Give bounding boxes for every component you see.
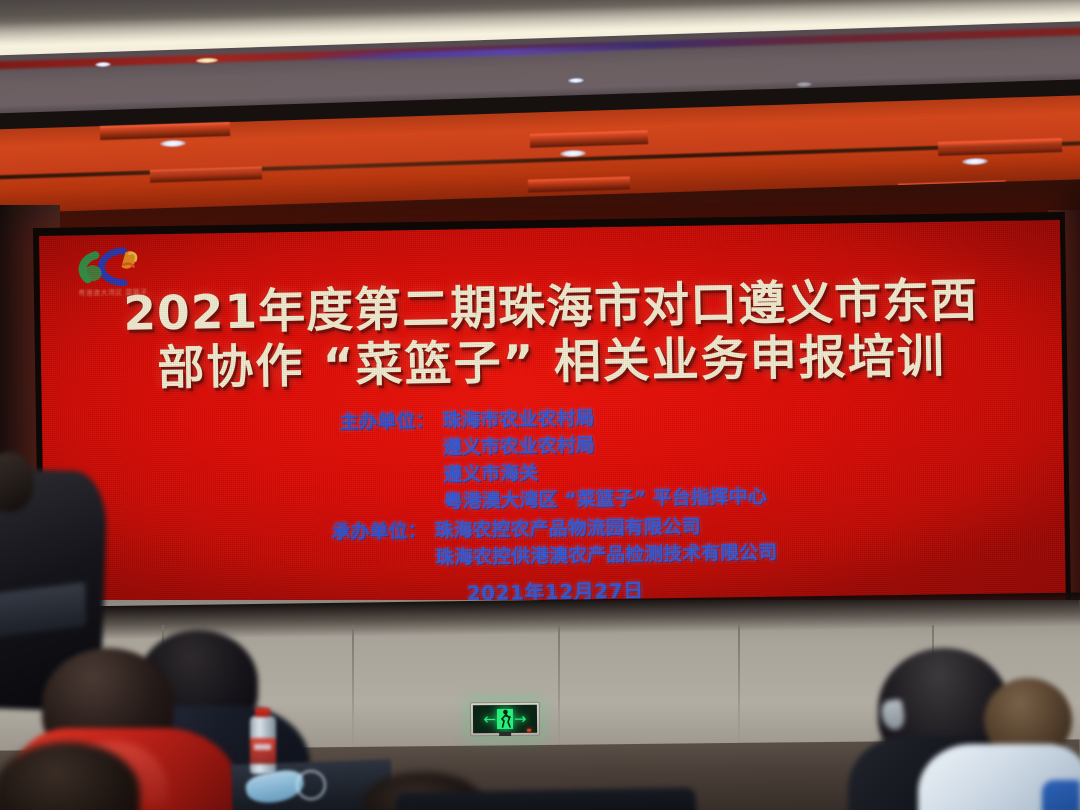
exit-sign-face: ← → [473,705,537,734]
slide-title: 2021年度第二期珠海市对口遵义市东西 部协作 “菜篮子” 相关业务申报培训 [40,272,1063,398]
exit-sign-mount [499,732,511,736]
co-organizer-item: 珠海农控供港澳农产品检测技术有限公司 [435,539,777,571]
running-man-icon [497,709,513,729]
organizers-block: 主办单位： 珠海市农业农村局 遵义市农业农村局 遵义市海关 粤港澳大湾区 “菜篮… [42,398,1065,522]
co-organizers-label: 承办单位： [332,518,435,547]
emergency-exit-sign: ← → [470,702,540,737]
bottle-label-mark [254,744,271,750]
led-screen: 粤港澳大湾区 菜篮子 2021年度第二期珠海市对口遵义市东西 部协作 “菜篮子”… [39,220,1066,622]
arrow-left-icon: ← [483,712,496,727]
co-organizers-list: 珠海农控农产品物流园有限公司 珠海农控供港澳农产品检测技术有限公司 [435,512,778,571]
organizer-item: 粤港澳大湾区 “菜篮子” 平台指挥中心 [443,484,767,516]
bottle-label [250,738,276,764]
organizers-list: 珠海市农业农村局 遵义市农业农村局 遵义市海关 粤港澳大湾区 “菜篮子” 平台指… [442,403,767,516]
exit-sign-status-led [527,729,531,732]
white-coat-blue-detail [1042,780,1080,810]
arrow-right-icon: → [514,711,527,726]
bottle-cap [255,708,270,717]
water-bottle [250,708,276,774]
conference-hall-photo: 粤港澳大湾区 菜篮子 2021年度第二期珠海市对口遵义市东西 部协作 “菜篮子”… [0,0,1080,810]
organizers-label: 主办单位： [339,408,442,437]
